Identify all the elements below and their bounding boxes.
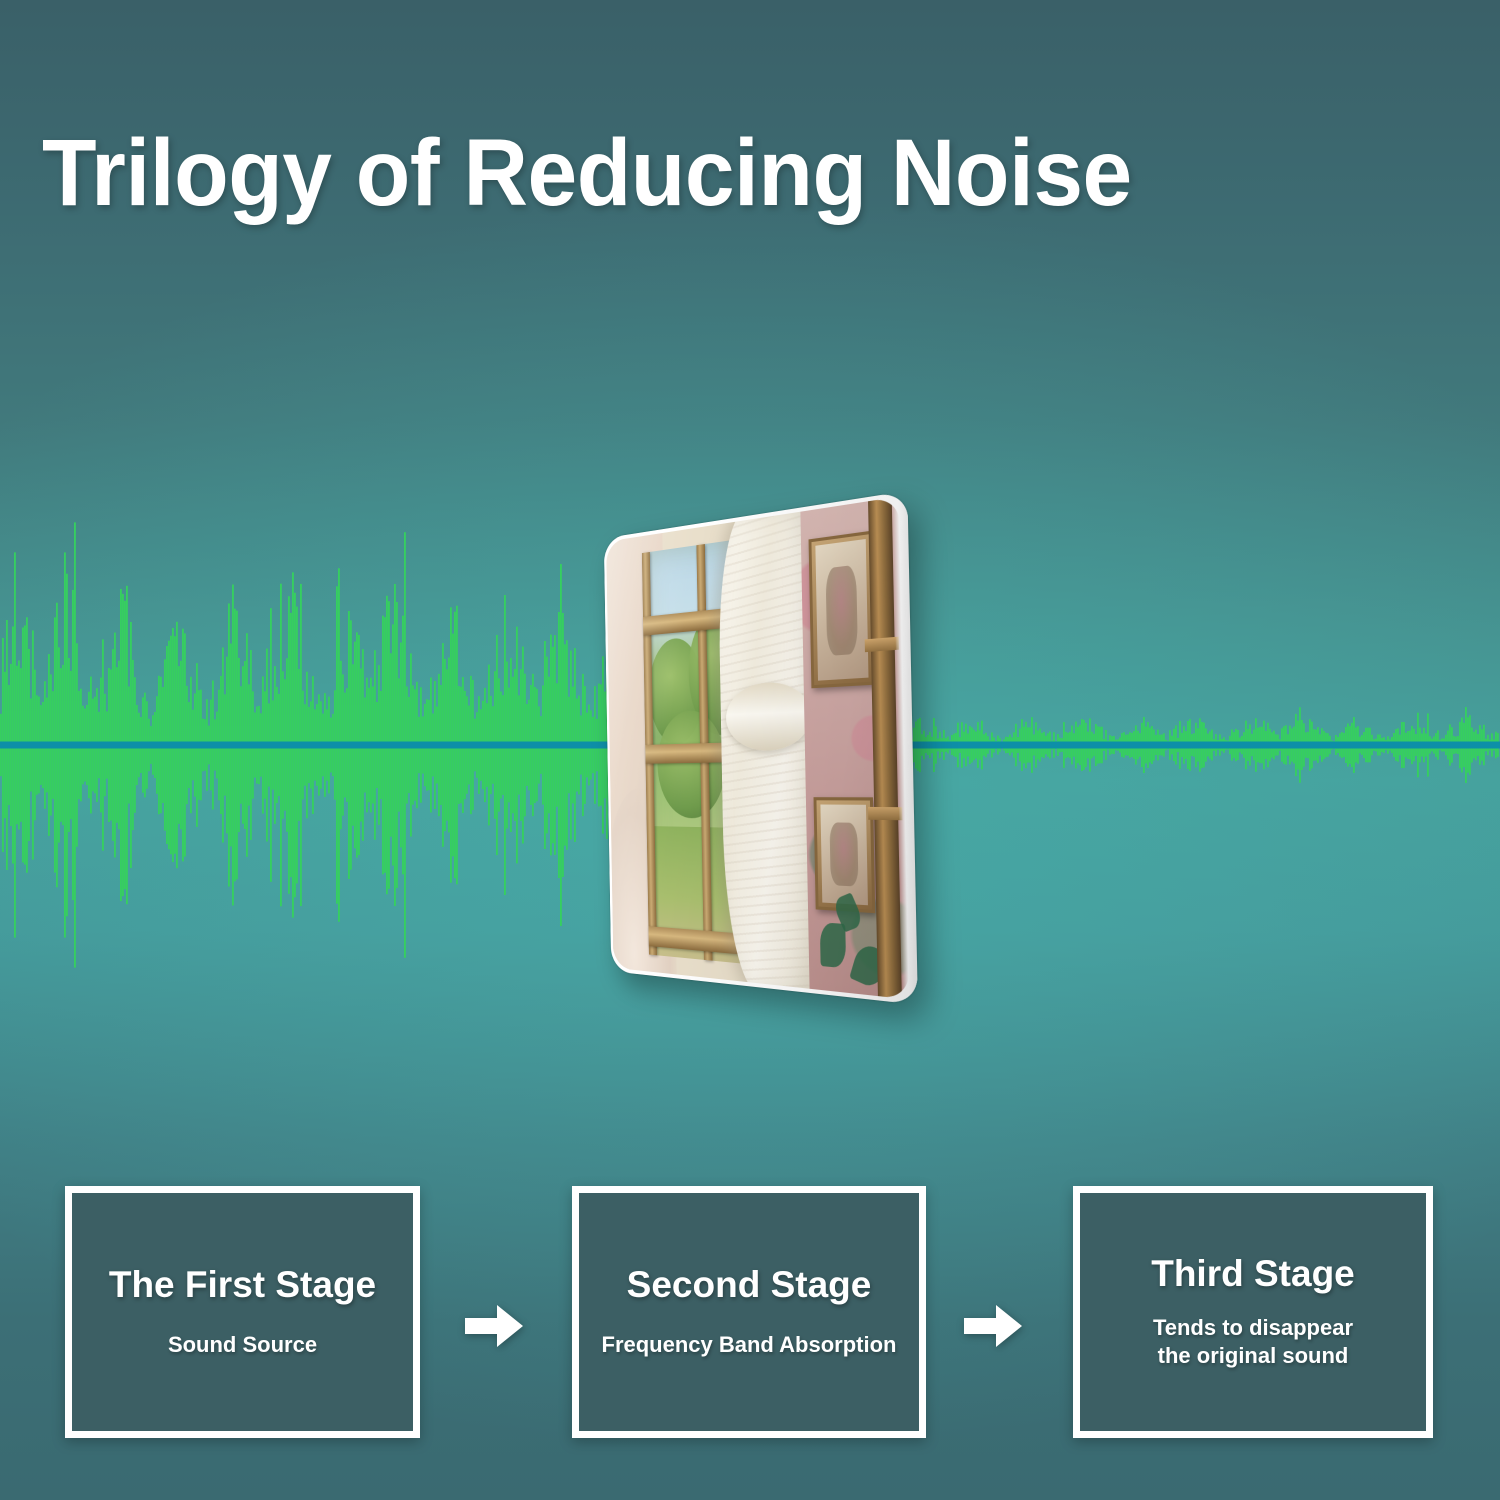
- stage-title: The First Stage: [109, 1265, 376, 1306]
- slide-canvas: Trilogy of Reducing Noise: [0, 0, 1500, 1500]
- arrow-right-icon: [463, 1302, 525, 1350]
- artwork-leaf: [820, 923, 846, 969]
- artwork-picture-canvas: [821, 805, 869, 905]
- artwork-wood-crossbar: [868, 807, 902, 820]
- acoustic-art-panel[interactable]: [577, 516, 917, 986]
- stage-subtitle: Sound Source: [168, 1331, 317, 1359]
- stage-flow: The First Stage Sound Source Second Stag…: [0, 1186, 1500, 1446]
- stage-subtitle-line: the original sound: [1153, 1342, 1353, 1370]
- arrow-right-icon: [962, 1302, 1024, 1350]
- stage-subtitle: Tends to disappear the original sound: [1153, 1314, 1353, 1370]
- stage-title: Third Stage: [1151, 1254, 1355, 1295]
- page-title: Trilogy of Reducing Noise: [42, 126, 1132, 221]
- panel-artwork: [606, 496, 909, 999]
- stage-title: Second Stage: [627, 1265, 872, 1306]
- stage-box-third[interactable]: Third Stage Tends to disappear the origi…: [1073, 1186, 1433, 1438]
- stage-box-first[interactable]: The First Stage Sound Source: [65, 1186, 420, 1438]
- panel-body: [604, 491, 918, 1005]
- artwork-wood-crossbar: [865, 637, 899, 653]
- stage-subtitle: Frequency Band Absorption: [602, 1331, 897, 1359]
- stage-box-second[interactable]: Second Stage Frequency Band Absorption: [572, 1186, 926, 1438]
- artwork-picture-frame: [809, 530, 877, 688]
- stage-subtitle-line: Tends to disappear: [1153, 1314, 1353, 1342]
- artwork-picture-canvas: [816, 539, 869, 681]
